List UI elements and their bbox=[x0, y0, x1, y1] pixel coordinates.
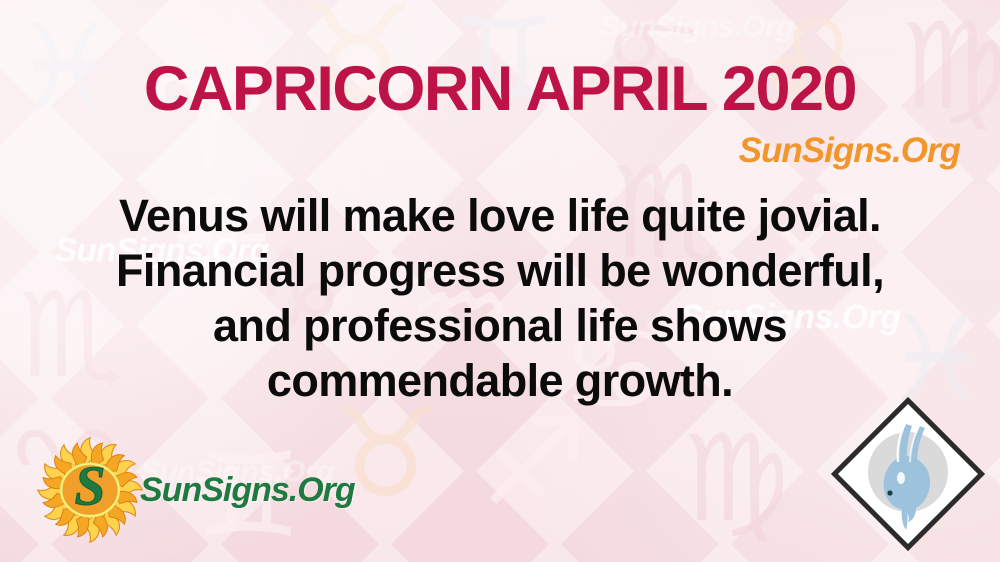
brand-logo[interactable]: S SunSigns.Org bbox=[36, 436, 355, 544]
sun-logo-icon: S bbox=[36, 436, 144, 544]
capricorn-sign-badge bbox=[828, 394, 988, 554]
banner-title: CAPRICORN APRIL 2020 bbox=[0, 58, 1000, 121]
watermark-faint-3: SunSigns.Org bbox=[600, 10, 794, 44]
capricorn-goat-icon bbox=[828, 394, 988, 554]
summary-line-1: Venus will make love life quite jovial. bbox=[18, 188, 982, 243]
summary-line-3: and professional life shows bbox=[18, 298, 982, 353]
summary-line-2: Financial progress will be wonderful, bbox=[18, 243, 982, 298]
horoscope-banner: ♓♈♉♊♋♌♍♎♏♐♑♒♏♋♉♐♍♓♊♈ SunSigns.Org SunSig… bbox=[0, 0, 1000, 562]
watermark-sunsigns-org: SunSigns.Org bbox=[739, 131, 960, 171]
brand-name-label: SunSigns.Org bbox=[140, 471, 355, 510]
sun-logo-letter: S bbox=[74, 455, 105, 517]
horoscope-summary: Venus will make love life quite jovial. … bbox=[18, 188, 982, 408]
